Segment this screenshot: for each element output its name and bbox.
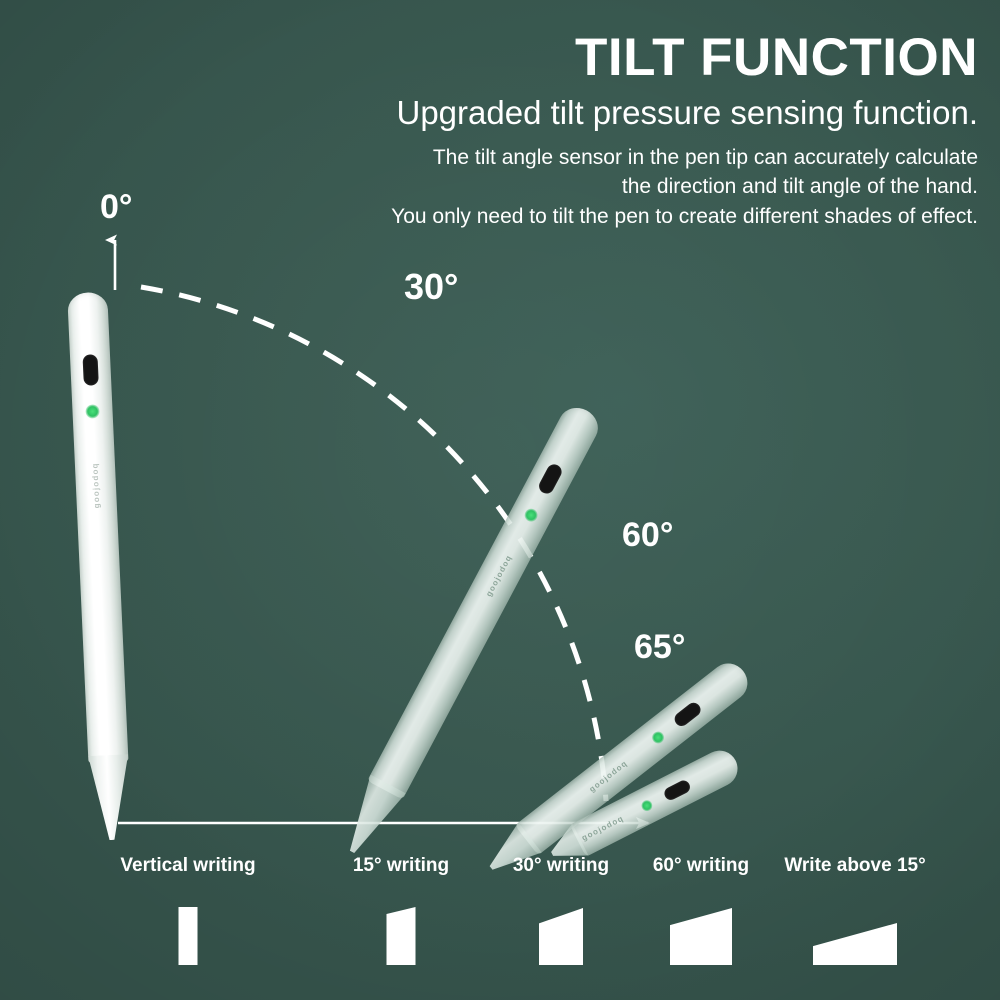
description-line-2: the direction and tilt angle of the hand… xyxy=(238,172,978,202)
legend-item-15deg: 15° writing xyxy=(308,856,494,965)
legend-label: 15° writing xyxy=(308,856,494,875)
angle-label-65: 65° xyxy=(634,628,685,667)
tilt-function-infographic: TILT FUNCTION Upgraded tilt pressure sen… xyxy=(0,0,1000,1000)
legend-label: Vertical writing xyxy=(93,856,283,875)
angle-label-30: 30° xyxy=(404,266,458,308)
wide-wedge-stroke-swatch xyxy=(670,908,732,965)
upright-stroke-swatch xyxy=(179,907,198,965)
slight-wedge-stroke-swatch xyxy=(387,907,416,965)
swatch-wrap xyxy=(308,903,494,965)
description-line-1: The tilt angle sensor in the pen tip can… xyxy=(238,143,978,173)
legend-item-vertical: Vertical writing xyxy=(93,856,283,965)
pen-tip xyxy=(88,754,132,841)
legend-label: Write above 15° xyxy=(750,856,960,875)
page-title: TILT FUNCTION xyxy=(238,30,978,86)
swatch-wrap xyxy=(93,903,283,965)
angle-label-0: 0° xyxy=(100,188,133,227)
swatch-wrap xyxy=(750,903,960,965)
usb-c-port-icon xyxy=(82,354,98,386)
medium-wedge-stroke-swatch xyxy=(539,908,583,965)
page-subtitle: Upgraded tilt pressure sensing function. xyxy=(238,94,978,133)
header-text-block: TILT FUNCTION Upgraded tilt pressure sen… xyxy=(238,30,978,232)
angle-label-60: 60° xyxy=(622,516,673,555)
legend-item-above-15deg: Write above 15° xyxy=(750,856,960,965)
writing-angle-legend: Vertical writing 15° writing 30° writing… xyxy=(60,856,960,976)
flat-wedge-stroke-swatch xyxy=(813,923,897,965)
description-line-3: You only need to tilt the pen to create … xyxy=(238,202,978,232)
